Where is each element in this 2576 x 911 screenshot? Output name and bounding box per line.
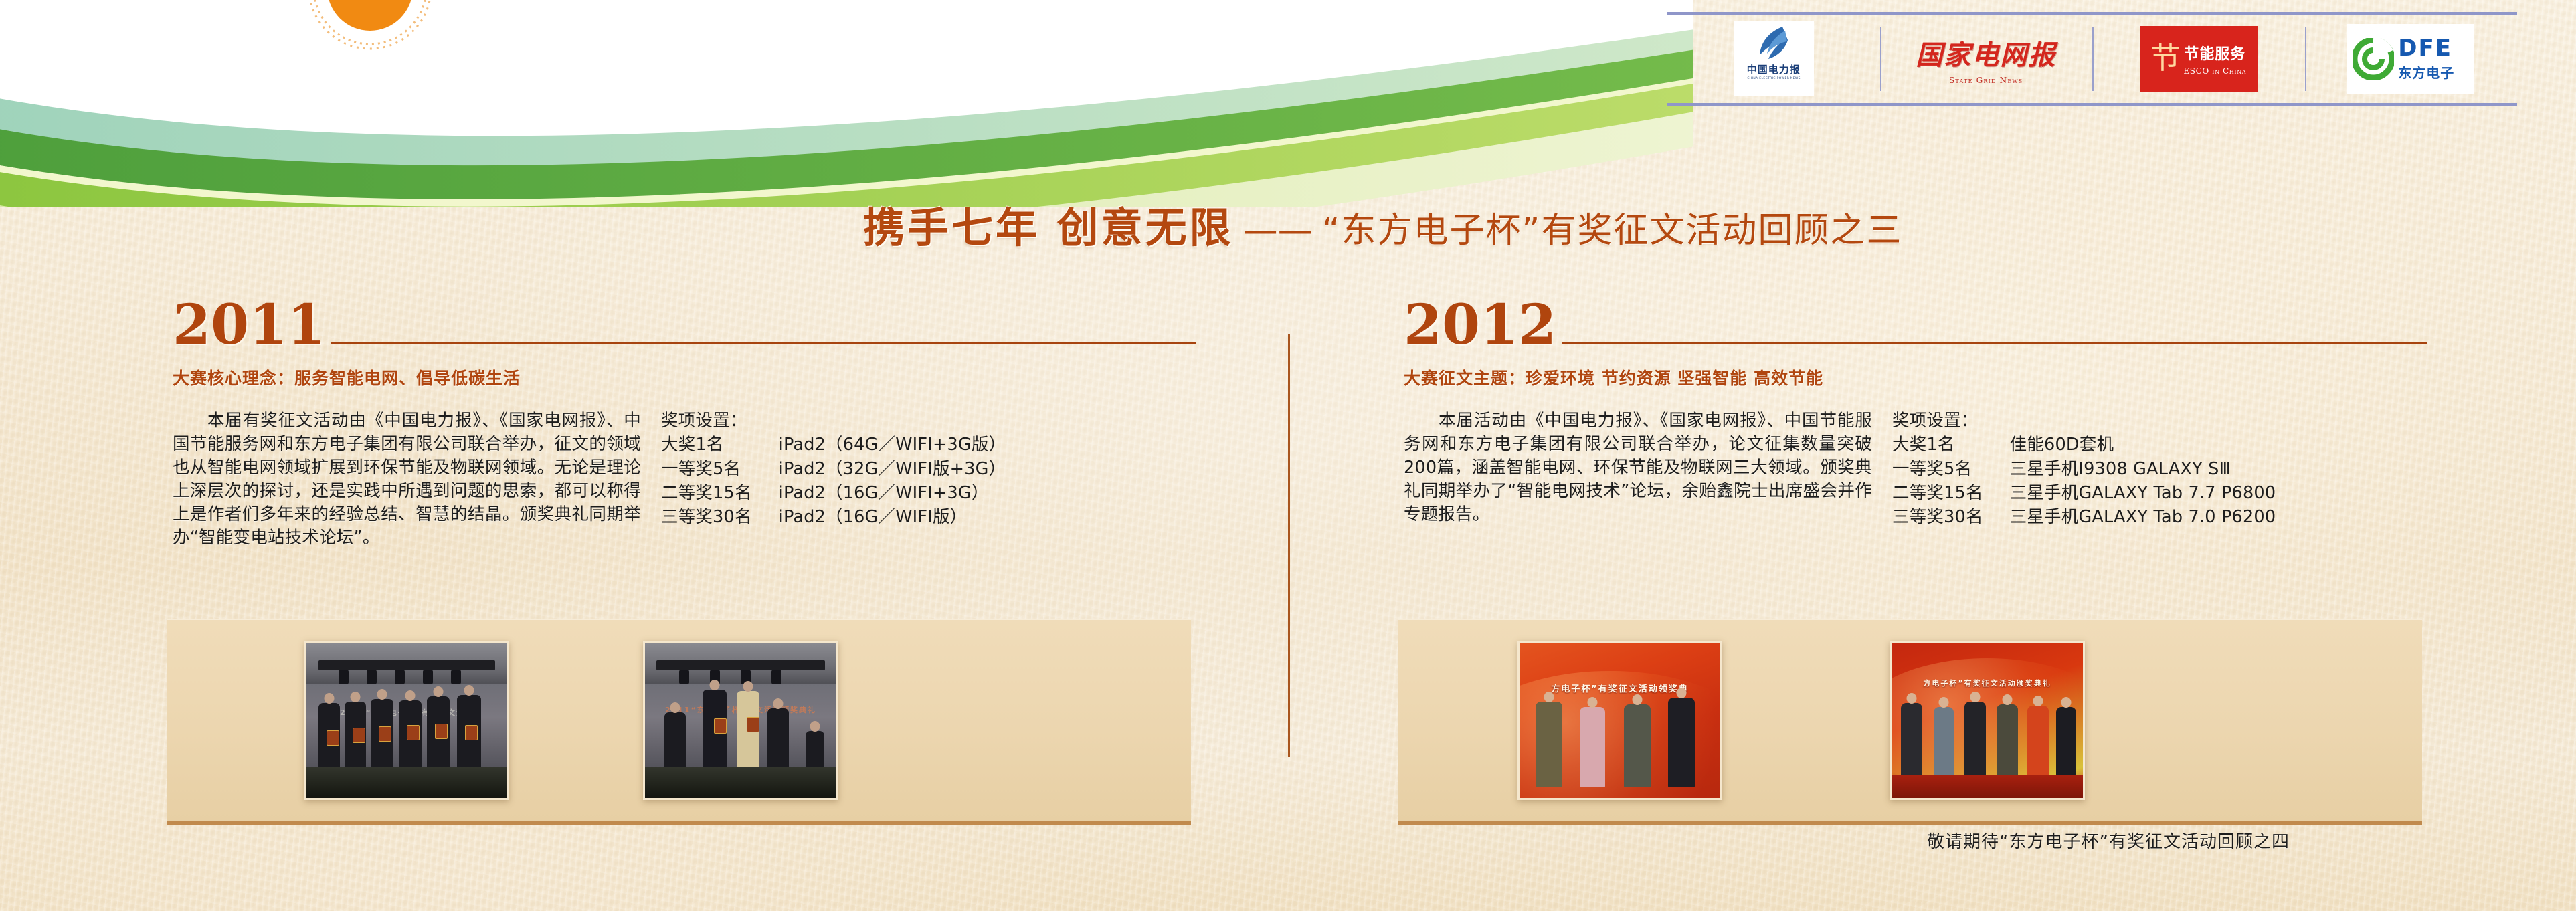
page-title: 携手七年 创意无限 —— “东方电子杯”有奖征文活动回顾之三 <box>863 194 1902 254</box>
footer-note: 敬请期待“东方电子杯”有奖征文活动回顾之四 <box>1927 828 2290 853</box>
year-rule <box>1562 342 2427 344</box>
prize-level: 一等奖5名 <box>661 457 779 481</box>
dfe-ring-icon <box>2353 38 2394 80</box>
prize-award: 三星手机GALAXY Tab 7.7 P6800 <box>2010 481 2276 505</box>
page-title-dash: —— <box>1243 211 1313 251</box>
prize-award: iPad2（16G／WIFI+3G） <box>779 481 1006 505</box>
prize-row: 三等奖30名 iPad2（16G／WIFI版） <box>661 505 1006 529</box>
sponsor-logo-dfe: DFE 东方电子 <box>2305 24 2518 94</box>
year-label: 2011 <box>173 300 325 350</box>
prize-row: 大奖1名 佳能60D套机 <box>1892 433 2276 457</box>
photo-2012-awards-ceremony: 方电子杯”有奖征文活动领奖典 <box>1517 641 1722 800</box>
dfe-label-en: DFE <box>2398 37 2454 60</box>
photo-band-2011: 2011“东方电子杯”有奖征文活动 2011“东方电子杯”征文活动颁奖典礼 <box>167 619 1191 825</box>
page-title-subtitle: “东方电子杯”有奖征文活动回顾之三 <box>1322 202 1903 252</box>
prize-row: 一等奖5名 iPad2（32G／WIFI版+3G） <box>661 457 1006 481</box>
year-rule <box>331 342 1196 344</box>
section-2011: 2011 大赛核心理念：服务智能电网、倡导低碳生活 本届有奖征文活动由《中国电力… <box>173 293 1196 550</box>
prize-row: 大奖1名 iPad2（64G／WIFI+3G版） <box>661 433 1006 457</box>
prize-row: 二等奖15名 iPad2（16G／WIFI+3G） <box>661 481 1006 505</box>
prize-award: 三星手机I9308 GALAXY SⅢ <box>2010 457 2276 481</box>
sponsor-logo-esco-in-china: 节 节能服务 ESCO in China <box>2092 24 2305 94</box>
year-heading-2012: 2012 <box>1404 293 2427 350</box>
esco-label-cn: 节能服务 <box>2184 42 2245 64</box>
prize-award: iPad2（64G／WIFI+3G版） <box>779 433 1006 457</box>
photo-2011-awards-ceremony: 2011“东方电子杯”征文活动颁奖典礼 <box>643 641 838 800</box>
sgn-label-en: State Grid News <box>1949 76 2023 85</box>
sponsor-logo-state-grid-news: 国家电网报 State Grid News <box>1880 24 2093 94</box>
section-theme-2012: 大赛征文主题：珍爱环境 节约资源 坚强智能 高效节能 <box>1404 365 2427 389</box>
esco-glyph-icon: 节 <box>2150 45 2180 72</box>
section-2012: 2012 大赛征文主题：珍爱环境 节约资源 坚强智能 高效节能 本届活动由《中国… <box>1404 293 2427 529</box>
prize-level: 三等奖30名 <box>1892 505 2010 529</box>
cepn-label-cn: 中国电力报 <box>1747 62 1801 76</box>
prize-award: iPad2（16G／WIFI版） <box>779 505 1006 529</box>
prize-award: 三星手机GALAXY Tab 7.0 P6200 <box>2010 505 2276 529</box>
prize-level: 一等奖5名 <box>1892 457 2010 481</box>
prize-row: 二等奖15名 三星手机GALAXY Tab 7.7 P6800 <box>1892 481 2276 505</box>
year-heading-2011: 2011 <box>173 293 1196 350</box>
photo-2011-awards-group: 2011“东方电子杯”有奖征文活动 <box>304 641 509 800</box>
prize-list-title: 奖项设置： <box>1892 409 2276 433</box>
prize-level: 二等奖15名 <box>1892 481 2010 505</box>
section-theme-2011: 大赛核心理念：服务智能电网、倡导低碳生活 <box>173 365 1196 389</box>
section-paragraph-2011: 本届有奖征文活动由《中国电力报》、《国家电网报》、中国节能服务网和东方电子集团有… <box>173 409 641 550</box>
sgn-label-cn: 国家电网报 <box>1916 33 2056 72</box>
page-title-bold: 携手七年 创意无限 <box>863 194 1234 254</box>
cepn-label-en: CHINA ELECTRIC POWER NEWS <box>1747 76 1800 80</box>
cepn-mark-icon <box>1756 24 1792 62</box>
prize-level: 三等奖30名 <box>661 505 779 529</box>
year-label: 2012 <box>1404 300 1556 350</box>
esco-label-en: ESCO in China <box>2183 66 2246 76</box>
section-paragraph-2012: 本届活动由《中国电力报》、《国家电网报》、中国节能服务网和东方电子集团有限公司联… <box>1404 409 1872 526</box>
dfe-label-cn: 东方电子 <box>2398 62 2454 82</box>
photo-2012-winners-group: 方电子杯”有奖征文活动颁奖典礼 <box>1890 641 2085 800</box>
prize-list-2012: 奖项设置： 大奖1名 佳能60D套机 一等奖5名 三星手机I9308 GALAX… <box>1892 409 2276 529</box>
prize-row: 三等奖30名 三星手机GALAXY Tab 7.0 P6200 <box>1892 505 2276 529</box>
column-divider <box>1288 334 1290 757</box>
prize-list-title: 奖项设置： <box>661 409 1006 433</box>
prize-list-2011: 奖项设置： 大奖1名 iPad2（64G／WIFI+3G版） 一等奖5名 iPa… <box>661 409 1006 550</box>
header-swoosh-art <box>0 0 1693 207</box>
prize-level: 二等奖15名 <box>661 481 779 505</box>
prize-level: 大奖1名 <box>661 433 779 457</box>
sponsor-logo-china-electric-power-news: 中国电力报 CHINA ELECTRIC POWER NEWS <box>1667 24 1880 94</box>
prize-award: 佳能60D套机 <box>2010 433 2276 457</box>
prize-level: 大奖1名 <box>1892 433 2010 457</box>
photo-banner-text: 方电子杯”有奖征文活动颁奖典礼 <box>1892 678 2083 688</box>
poster-canvas: 中国电力报 CHINA ELECTRIC POWER NEWS 国家电网报 St… <box>0 0 2576 911</box>
prize-award: iPad2（32G／WIFI版+3G） <box>779 457 1006 481</box>
photo-band-2012: 方电子杯”有奖征文活动领奖典 方电子杯”有奖征文活动颁奖典礼 <box>1398 619 2422 825</box>
sponsor-logo-strip: 中国电力报 CHINA ELECTRIC POWER NEWS 国家电网报 St… <box>1667 12 2517 106</box>
prize-row: 一等奖5名 三星手机I9308 GALAXY SⅢ <box>1892 457 2276 481</box>
